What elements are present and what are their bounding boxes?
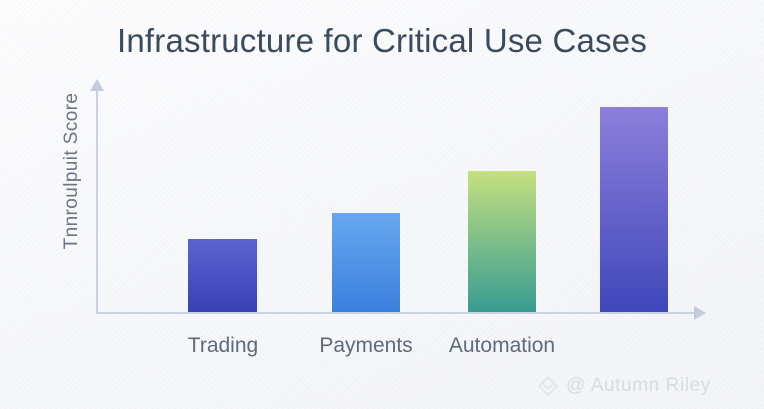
chart-canvas: Infrastructure for Critical Use Cases Tn… (0, 0, 764, 409)
y-axis-line (96, 90, 98, 314)
x-tick-label-payments: Payments (300, 334, 432, 358)
x-tick-label-automation: Automation (432, 334, 572, 358)
bar-unlabeled (600, 107, 668, 312)
bar-payments (332, 213, 400, 312)
x-axis-line (96, 312, 696, 314)
bar-trading (188, 239, 257, 312)
watermark-handle: @ Autumn Riley (566, 375, 711, 397)
watermark: @ Autumn Riley (536, 374, 711, 398)
x-axis-arrow-icon (694, 306, 706, 320)
chart-title: Infrastructure for Critical Use Cases (0, 22, 764, 60)
bar-automation (468, 171, 536, 312)
y-axis-label: Tnnroulpuit Score (61, 51, 83, 291)
diamond-logo-icon (536, 374, 560, 398)
x-tick-label-trading: Trading (158, 334, 288, 358)
y-axis-arrow-icon (90, 79, 104, 91)
